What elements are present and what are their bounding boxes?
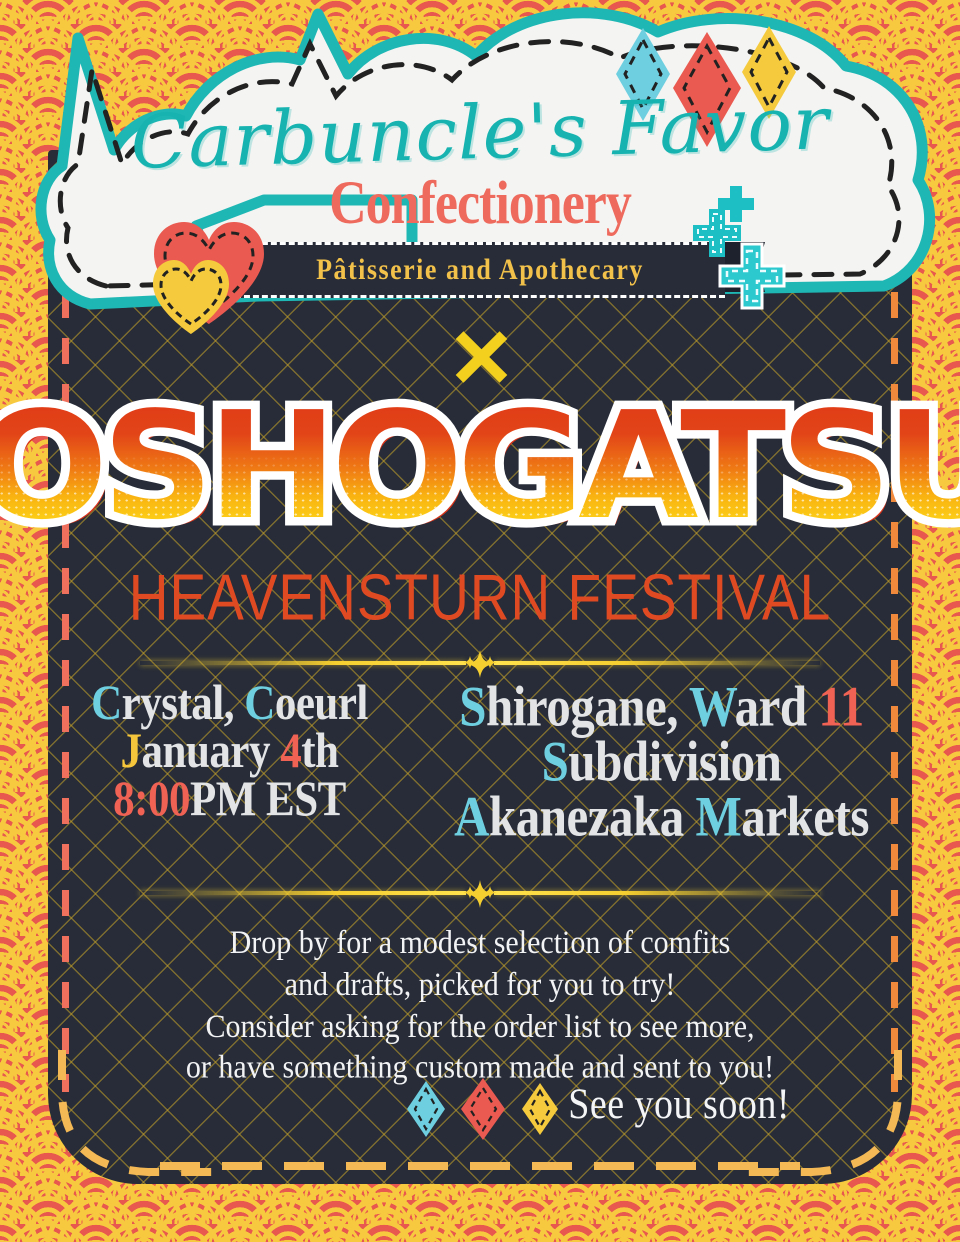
ribbon-label: Pâtisserie and Apothecary — [316, 253, 644, 287]
divider-line-left-2 — [140, 891, 466, 895]
divider-line-right — [494, 661, 820, 665]
title-halftone-layer: OSHOGATSU — [0, 392, 960, 540]
x-mark-divider — [452, 328, 510, 386]
panel-border-bottom-dashed — [160, 1162, 800, 1170]
divider-line-right-2 — [494, 891, 820, 895]
info-column-left: Crystal, Coeurl January 4th 8:00PM EST — [91, 680, 368, 824]
ribbon-banner: Pâtisserie and Apothecary — [235, 242, 725, 298]
divider-bottom — [140, 878, 820, 908]
body-line-1: Drop by for a modest selection of comfit… — [60, 922, 900, 964]
brand-subtitle: Confectionery — [0, 173, 960, 234]
body-description: Drop by for a modest selection of comfit… — [60, 922, 900, 1088]
closing-message: See you soon! — [568, 1079, 790, 1130]
body-line-3: Consider asking for the order list to se… — [60, 1006, 900, 1048]
plus-large-icon — [716, 240, 788, 312]
sparkle-ornament-bottom — [463, 880, 497, 910]
info-column-right: Shirogane, Ward 11 Subdivision Akanezaka… — [454, 680, 869, 845]
footer-diamond-row — [400, 1078, 570, 1140]
poster-canvas: Carbuncle's Favor Confectionery Pâtisser… — [0, 0, 960, 1242]
heart-yellow — [148, 256, 234, 338]
festival-title-block: OSHOGATSU OSHOGATSU OSHOGATSU OSHOGATSU … — [0, 392, 960, 540]
info-line-time: 8:00PM EST — [91, 772, 368, 828]
festival-subtitle: HEAVENSTURN FESTIVAL — [0, 565, 960, 630]
divider-line-left — [140, 661, 466, 665]
info-line-markets: Akanezaka Markets — [454, 785, 869, 849]
event-info-columns: Crystal, Coeurl January 4th 8:00PM EST S… — [48, 680, 912, 845]
body-line-2: and drafts, picked for you to try! — [60, 964, 900, 1006]
